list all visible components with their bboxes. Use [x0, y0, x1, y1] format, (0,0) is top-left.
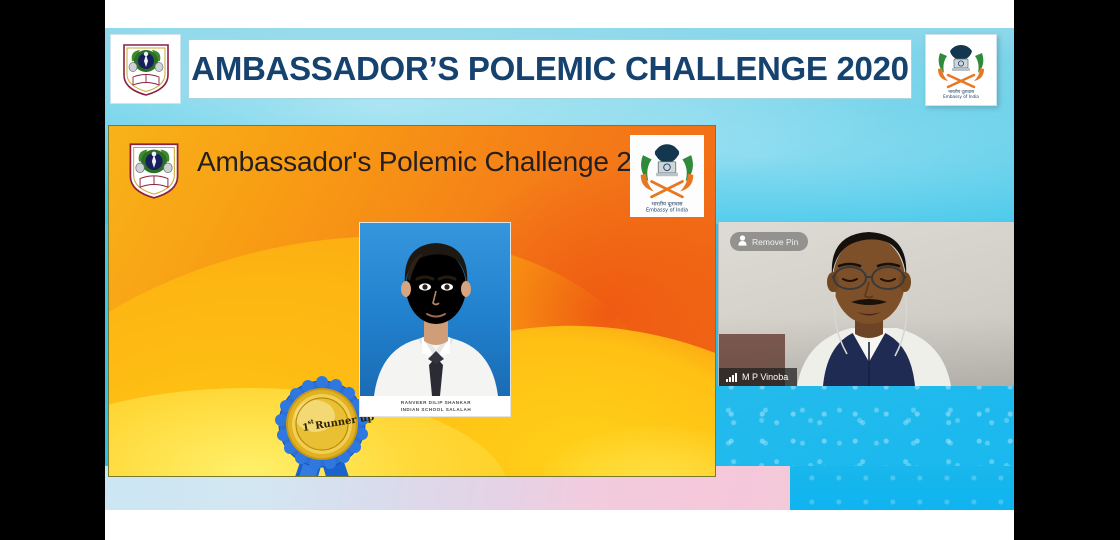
- shared-screen-canvas: AMBASSADOR’S POLEMIC CHALLENGE 2020: [105, 0, 1014, 540]
- school-crest-logo: [123, 138, 185, 202]
- school-crest-logo: [110, 34, 181, 104]
- canvas-bottom-margin: [105, 510, 1014, 540]
- winner-school: INDIAN SCHOOL SALALAH: [360, 406, 511, 413]
- svg-text:Embassy of India: Embassy of India: [943, 94, 979, 99]
- winner-photo-card: RANVEER DILIP SHANKAR INDIAN SCHOOL SALA…: [359, 222, 511, 417]
- event-banner: AMBASSADOR’S POLEMIC CHALLENGE 2020: [105, 28, 1014, 110]
- winner-portrait: [360, 223, 511, 396]
- canvas-top-margin: [105, 0, 1014, 28]
- svg-text:भारतीय दूतावास: भारतीय दूतावास: [651, 201, 683, 208]
- svg-text:Embassy of India: Embassy of India: [646, 208, 688, 214]
- participant-name-chip: M P Vinoba: [719, 368, 797, 386]
- winner-name: RANVEER DILIP SHANKAR: [360, 399, 511, 406]
- letterbox-left: [0, 0, 105, 540]
- event-title: AMBASSADOR’S POLEMIC CHALLENGE 2020: [191, 50, 908, 88]
- participant-name: M P Vinoba: [742, 372, 788, 382]
- participant-video-tile[interactable]: Remove Pin M P Vinoba: [718, 222, 1014, 386]
- event-title-container: AMBASSADOR’S POLEMIC CHALLENGE 2020: [188, 39, 912, 99]
- presentation-slide: Ambassador's Polemic Challenge 2020: [108, 125, 716, 477]
- letterbox-right: [1014, 0, 1120, 540]
- meeting-stage: AMBASSADOR’S POLEMIC CHALLENGE 2020: [0, 0, 1120, 540]
- winner-photo-caption: RANVEER DILIP SHANKAR INDIAN SCHOOL SALA…: [360, 396, 511, 417]
- embassy-of-india-logo: भारतीय दूतावास Embassy of India: [630, 135, 704, 217]
- person-pin-icon: [738, 233, 747, 251]
- remove-pin-button[interactable]: Remove Pin: [730, 232, 808, 251]
- slide-header: Ambassador's Polemic Challenge 2020: [109, 126, 716, 214]
- slide-title: Ambassador's Polemic Challenge 2020: [197, 146, 678, 178]
- remove-pin-label: Remove Pin: [752, 237, 798, 247]
- embassy-of-india-logo: भारतीय दूतावास Embassy of India: [925, 34, 997, 106]
- signal-strength-icon: [726, 373, 737, 382]
